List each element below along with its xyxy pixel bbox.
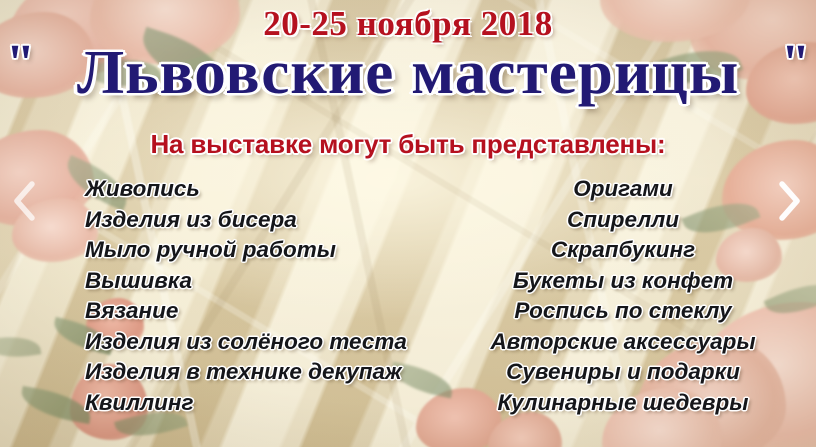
list-item: Роспись по стеклу [514,296,731,327]
title-row: " Львовские мастерицы " [0,42,816,104]
list-item: Оригами [573,174,673,205]
list-item: Вязание [85,296,178,327]
exhibition-poster-slide: 20-25 ноября 2018 " Львовские мастерицы … [0,0,816,447]
categories-column-right: Оригами Спирелли Скрапбукинг Букеты из к… [430,174,816,439]
subtitle: На выставке могут быть представлены: [0,129,816,160]
list-item: Скрапбукинг [551,235,695,266]
list-item: Кулинарные шедевры [498,388,749,419]
carousel-next-button[interactable] [772,178,806,224]
list-item: Квиллинг [85,388,194,419]
carousel-prev-button[interactable] [8,178,42,224]
categories-columns: Живопись Изделия из бисера Мыло ручной р… [0,174,816,439]
list-item: Мыло ручной работы [85,235,336,266]
list-item: Изделия в технике декупаж [85,357,402,388]
list-item: Изделия из бисера [85,205,297,236]
list-item: Сувениры и подарки [506,357,740,388]
page-title: Львовские мастерицы [27,42,788,104]
list-item: Букеты из конфет [513,266,733,297]
chevron-right-icon [772,178,806,224]
event-date: 20-25 ноября 2018 [0,4,816,44]
list-item: Авторские аксессуары [490,327,755,358]
list-item: Спирелли [567,205,679,236]
list-item: Живопись [85,174,200,205]
categories-column-left: Живопись Изделия из бисера Мыло ручной р… [0,174,430,439]
chevron-left-icon [8,178,42,224]
list-item: Изделия из солёного теста [85,327,407,358]
list-item: Вышивка [85,266,192,297]
